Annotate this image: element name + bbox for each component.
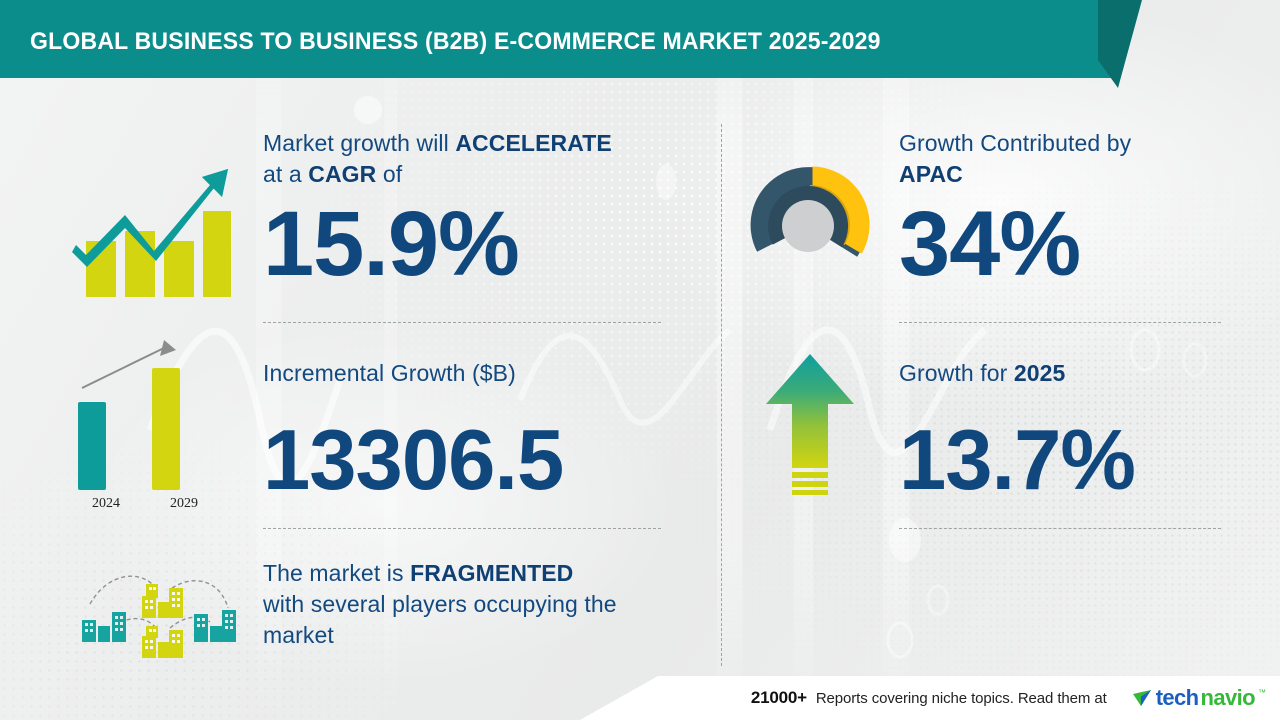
fragmentation-line3: market [263,622,334,648]
cagr-accelerate: ACCELERATE [455,130,611,156]
growth-2025-description: Growth for 2025 [899,358,1229,389]
divider-left-1 [263,322,661,323]
cagr-line2-prefix: at a [263,161,308,187]
technavio-mark-icon [1132,687,1154,709]
fragmentation-line1-prefix: The market is [263,560,410,586]
growth-2025-value: 13.7% [899,418,1135,503]
footer-bar: 21000+ Reports covering niche topics. Re… [0,676,1280,720]
bar-label-2024: 2024 [76,496,136,512]
apac-description: Growth Contributed by APAC [899,128,1229,190]
apac-region: APAC [899,161,963,187]
donut-chart-icon [748,166,872,290]
page-title: GLOBAL BUSINESS TO BUSINESS (B2B) E-COMM… [30,28,881,56]
bar-label-2029: 2029 [154,496,214,512]
footer-text: Reports covering niche topics. Read them… [816,690,1107,707]
incremental-growth-label: Incremental Growth ($B) [263,358,663,389]
city-buildings-network-icon [68,560,248,660]
cagr-description: Market growth will ACCELERATE at a CAGR … [263,128,663,190]
two-bar-comparison-icon [72,330,242,515]
incremental-growth-value: 13306.5 [263,418,563,503]
reports-count: 21000+ [751,688,807,708]
technavio-logo[interactable]: tech navio ™ [1132,685,1266,711]
divider-right-1 [899,322,1221,323]
apac-line1: Growth Contributed by [899,130,1131,156]
growth-2025-prefix: Growth for [899,360,1014,386]
divider-left-2 [263,528,661,529]
cagr-value: 15.9% [263,198,519,290]
fragmentation-keyword: FRAGMENTED [410,560,573,586]
infographic-root: GLOBAL BUSINESS TO BUSINESS (B2B) E-COMM… [0,0,1280,720]
logo-text-navio: navio [1201,685,1255,711]
apac-value: 34% [899,198,1080,290]
logo-text-tech: tech [1156,685,1199,711]
growth-2025-year: 2025 [1014,360,1066,386]
divider-right-2 [899,528,1221,529]
fragmentation-description: The market is FRAGMENTED with several pl… [263,558,683,651]
growth-arrow-bar-chart-icon [70,155,240,305]
fragmentation-line2: with several players occupying the [263,591,617,617]
logo-trademark: ™ [1258,688,1266,697]
upward-gradient-arrow-icon [764,352,856,500]
cagr-line2-suffix: of [376,161,402,187]
header-banner: GLOBAL BUSINESS TO BUSINESS (B2B) E-COMM… [0,0,1140,78]
cagr-keyword: CAGR [308,161,376,187]
column-divider [721,124,722,666]
cagr-line1-prefix: Market growth will [263,130,455,156]
